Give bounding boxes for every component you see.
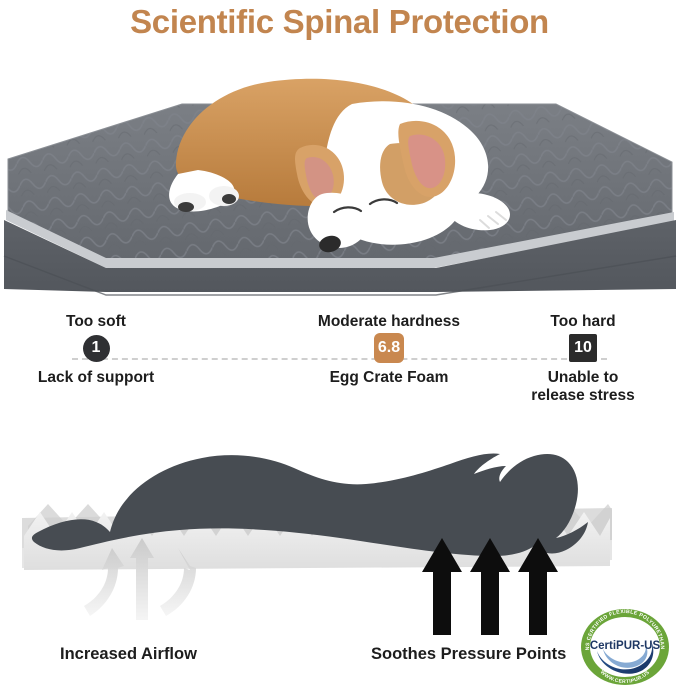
infographic-page: Scientific Spinal Protection bbox=[0, 0, 679, 691]
foam-cross-section-diagram bbox=[0, 420, 679, 635]
scale-stop-top-label: Too soft bbox=[8, 312, 184, 331]
certipur-brand-text: CertiPUR-US bbox=[590, 640, 661, 652]
hero-product-photo bbox=[0, 44, 679, 297]
scale-badge-1: 1 bbox=[83, 335, 110, 362]
scale-stop-too-hard: Too hard 10 Unable to release stress bbox=[495, 312, 671, 405]
scale-stop-too-soft: Too soft 1 Lack of support bbox=[8, 312, 184, 387]
pressure-points-caption: Soothes Pressure Points bbox=[371, 645, 566, 664]
hardness-scale: Too soft 1 Lack of support Moderate hard… bbox=[0, 312, 679, 417]
scale-stop-top-label: Moderate hardness bbox=[299, 312, 479, 331]
scale-badge-10: 10 bbox=[569, 334, 597, 362]
scale-stop-top-label: Too hard bbox=[495, 312, 671, 331]
scale-stop-bottom-label: Unable to bbox=[495, 369, 671, 387]
scale-stop-moderate: Moderate hardness 6.8 Egg Crate Foam bbox=[299, 312, 479, 387]
pressure-point-arrows bbox=[422, 538, 558, 635]
scale-stop-bottom-label: Egg Crate Foam bbox=[299, 369, 479, 387]
page-title: Scientific Spinal Protection bbox=[0, 0, 679, 46]
scale-badge-row: 6.8 bbox=[299, 333, 479, 363]
scale-badge-row: 10 bbox=[495, 333, 671, 363]
scale-stop-bottom-label: Lack of support bbox=[8, 369, 184, 387]
airflow-caption: Increased Airflow bbox=[60, 645, 197, 664]
scale-stop-bottom-label-2: release stress bbox=[495, 387, 671, 405]
scale-badge-6-8: 6.8 bbox=[374, 333, 404, 363]
scale-badge-row: 1 bbox=[8, 333, 184, 363]
certipur-us-logo: CONTAINS CERTIFIED FLEXIBLE POLYURETHANE… bbox=[577, 607, 673, 687]
